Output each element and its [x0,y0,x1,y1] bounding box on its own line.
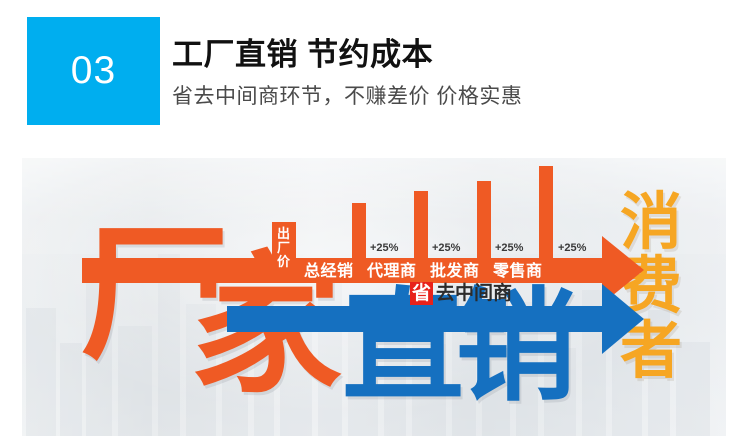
step-number-badge: 03 [27,17,160,125]
markup-label-2: +25% [432,242,460,254]
ex-factory-price-label: 出 厂 价 [275,228,292,270]
markup-label-1: +25% [370,242,398,254]
skip-middleman-banner: 省 去中间商 [410,282,512,305]
ex-factory-char-3: 价 [275,256,292,270]
section-header: 03 工厂直销 节约成本 省去中间商环节，不赚差价 价格实惠 [0,0,748,150]
markup-label-4: +25% [558,242,586,254]
step-number-label: 03 [71,49,116,93]
chain-stage-label-2: 代理商 [367,260,417,282]
ex-factory-char-1: 出 [275,228,292,242]
page-subtitle: 省去中间商环节，不赚差价 价格实惠 [172,84,522,110]
infographic-banner: 厂 家 直 销 出 厂 价 总经销 代理商 批发商 零售商 +25% +25% … [22,158,726,436]
skip-middleman-highlight: 省 [410,282,433,305]
price-step-bar-4 [539,166,553,261]
markup-label-3: +25% [495,242,523,254]
price-step-bar-2 [414,191,428,261]
direct-arrow-head [602,284,644,354]
direct-arrow-body [227,306,607,332]
header-text-block: 工厂直销 节约成本 省去中间商环节，不赚差价 价格实惠 [172,36,522,110]
price-step-bar-3 [477,181,491,261]
price-step-bar-1 [352,203,366,261]
ex-factory-char-2: 厂 [275,242,292,256]
page-title: 工厂直销 节约成本 [172,36,522,75]
chain-stage-label-1: 总经销 [304,260,354,282]
chain-stage-label-4: 零售商 [493,260,543,282]
chain-stage-label-3: 批发商 [430,260,480,282]
skip-middleman-rest: 去中间商 [436,282,512,305]
